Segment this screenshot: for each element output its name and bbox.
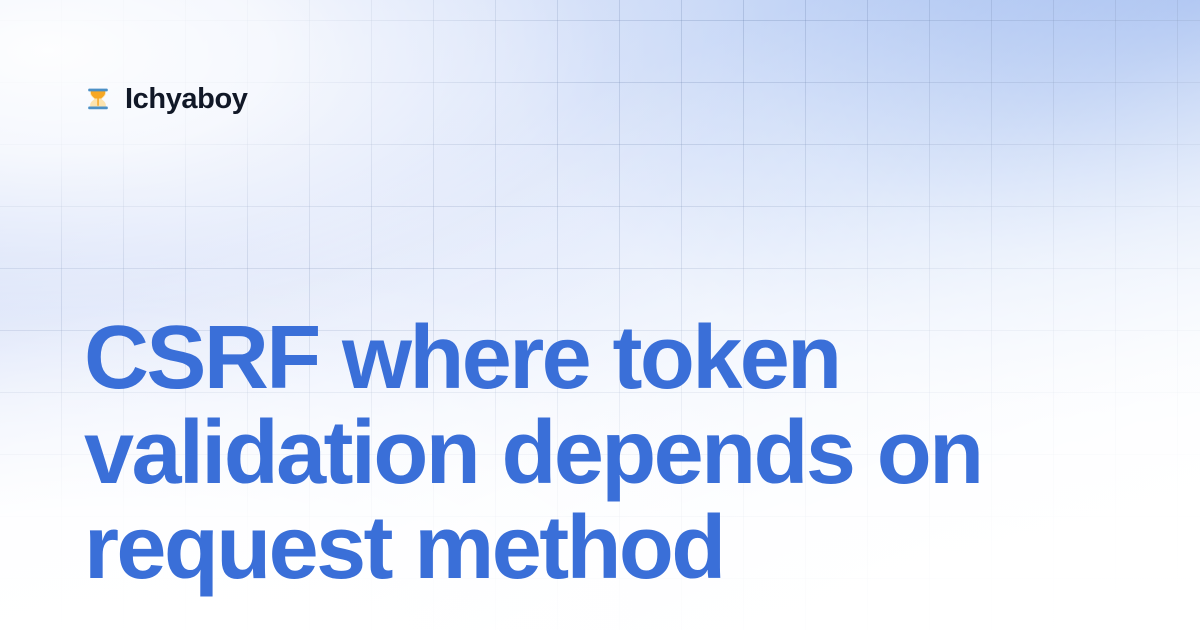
card-content: Ichyaboy CSRF where token validation dep… [0,0,1200,630]
title-line-2: validation depends on [84,406,1124,501]
title-line-3: request method [84,501,1124,596]
social-card: Ichyaboy CSRF where token validation dep… [0,0,1200,630]
brand-name: Ichyaboy [125,85,248,114]
brand-logo: Ichyaboy [82,76,248,122]
page-title: CSRF where token validation depends on r… [84,311,1124,596]
hourglass-flowing-sand-icon [82,83,114,115]
title-line-1: CSRF where token [84,311,1124,406]
